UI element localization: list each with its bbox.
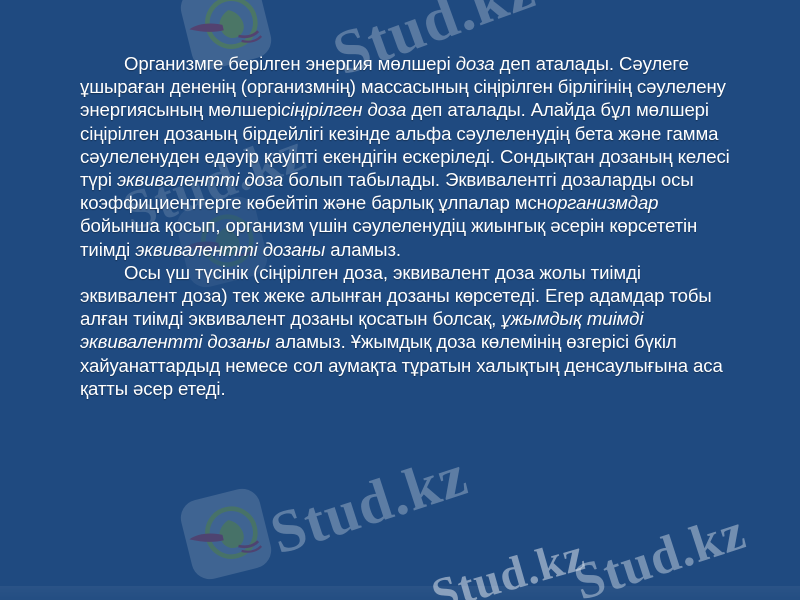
background-bottom-strip (0, 586, 800, 600)
presentation-slide: Stud.kz Stud.kz Stud.kz Stud.kz Stud.kz … (0, 0, 800, 600)
emphasized-term: эквивалентті дозаны (135, 239, 325, 260)
slide-body-text: Организмге берілген энергия мөлшері доза… (80, 52, 740, 400)
emphasized-term: организмдар (547, 192, 659, 213)
body-paragraph: Осы үш түсінік (сіңірілген доза, эквивал… (80, 261, 740, 400)
emphasized-term: доза (456, 53, 495, 74)
emphasized-term: сіңірілген доза (281, 99, 406, 120)
emphasized-term: эквивалентті доза (117, 169, 283, 190)
body-text-run: аламыз. (325, 239, 401, 260)
body-paragraph: Организмге берілген энергия мөлшері доза… (80, 52, 740, 261)
body-text-run: Организмге берілген энергия мөлшері (124, 53, 456, 74)
